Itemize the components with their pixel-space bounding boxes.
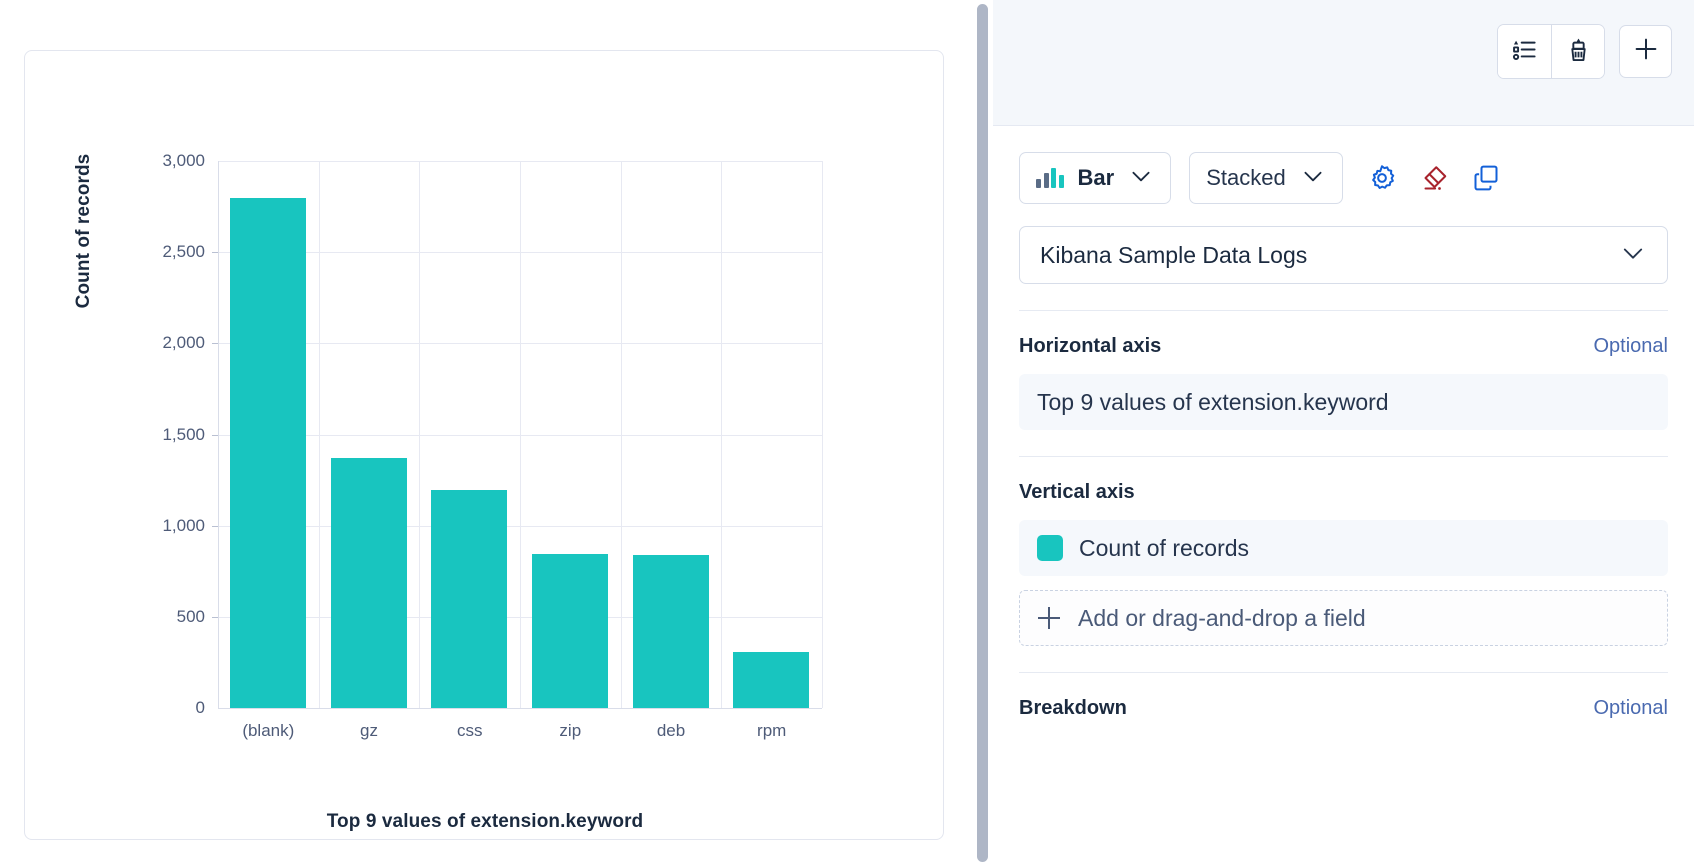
dimension-vertical-axis[interactable]: Count of records bbox=[1019, 520, 1668, 576]
x-axis-line bbox=[218, 708, 822, 709]
chart-type-select[interactable]: Bar bbox=[1019, 152, 1171, 204]
bar-zip[interactable] bbox=[532, 554, 608, 708]
config-panel: Bar Stacked bbox=[993, 0, 1694, 868]
gridline-vertical bbox=[520, 161, 521, 708]
bar-gz[interactable] bbox=[331, 458, 407, 708]
gridline-vertical bbox=[822, 161, 823, 708]
group-optional-label: Optional bbox=[1594, 335, 1669, 358]
bar-chart-icon bbox=[1036, 168, 1064, 188]
bar-chart[interactable]: Count of records Top 9 values of extensi… bbox=[25, 51, 943, 839]
config-panel-body: Bar Stacked bbox=[993, 126, 1694, 720]
group-title: Horizontal axis bbox=[1019, 335, 1161, 358]
group-header-horizontal-axis: Horizontal axis Optional bbox=[993, 311, 1694, 358]
x-tick-label: deb bbox=[657, 721, 685, 741]
dimension-label: Count of records bbox=[1079, 535, 1249, 562]
clear-styles-button[interactable] bbox=[1551, 25, 1604, 78]
y-axis-tick-labels: 3,000 2,500 2,000 1,500 1,000 500 0 bbox=[95, 161, 205, 708]
config-panel-header bbox=[993, 0, 1694, 126]
bar-blank[interactable] bbox=[230, 198, 306, 709]
chart-type-controls: Bar Stacked bbox=[993, 126, 1694, 204]
layer-action-icons bbox=[1367, 163, 1501, 193]
x-tick-label: css bbox=[457, 721, 483, 741]
gear-icon[interactable] bbox=[1367, 163, 1397, 193]
lens-editor: Count of records Top 9 values of extensi… bbox=[0, 0, 1694, 868]
chart-subtype-label: Stacked bbox=[1206, 165, 1286, 191]
gridline-vertical bbox=[621, 161, 622, 708]
group-optional-label: Optional bbox=[1594, 697, 1669, 720]
y-tick-label: 3,000 bbox=[162, 151, 205, 171]
plus-icon bbox=[1631, 34, 1661, 69]
legend-options-button[interactable] bbox=[1498, 25, 1551, 78]
group-header-breakdown: Breakdown Optional bbox=[993, 673, 1694, 720]
header-actions bbox=[1497, 24, 1672, 79]
group-title: Vertical axis bbox=[1019, 481, 1135, 504]
add-field-label: Add or drag-and-drop a field bbox=[1078, 605, 1366, 632]
header-button-group bbox=[1497, 24, 1605, 79]
bar-rpm[interactable] bbox=[733, 652, 809, 709]
scrollbar-thumb[interactable] bbox=[977, 4, 988, 862]
x-tick-label: rpm bbox=[757, 721, 786, 741]
group-header-vertical-axis: Vertical axis bbox=[993, 457, 1694, 504]
group-title: Breakdown bbox=[1019, 697, 1127, 720]
brush-icon bbox=[1565, 36, 1592, 68]
series-color-swatch[interactable] bbox=[1037, 535, 1063, 561]
add-layer-button[interactable] bbox=[1619, 25, 1672, 78]
y-tick-label: 500 bbox=[177, 607, 205, 627]
chevron-down-icon bbox=[1619, 239, 1647, 272]
eraser-icon[interactable] bbox=[1419, 163, 1449, 193]
duplicate-icon[interactable] bbox=[1471, 163, 1501, 193]
plus-icon bbox=[1038, 607, 1060, 629]
chart-subtype-select[interactable]: Stacked bbox=[1189, 152, 1343, 204]
y-axis-title: Count of records bbox=[73, 111, 95, 351]
plot-area: (blank) gz css zip deb rpm bbox=[218, 161, 822, 708]
dimension-label: Top 9 values of extension.keyword bbox=[1037, 389, 1389, 416]
gridline-vertical bbox=[721, 161, 722, 708]
add-field-vertical-axis[interactable]: Add or drag-and-drop a field bbox=[1019, 590, 1668, 646]
y-tick-label: 2,000 bbox=[162, 333, 205, 353]
y-tick-label: 1,000 bbox=[162, 516, 205, 536]
chevron-down-icon bbox=[1300, 163, 1326, 194]
dataset-label: Kibana Sample Data Logs bbox=[1040, 242, 1307, 269]
chart-type-label: Bar bbox=[1078, 165, 1115, 191]
chevron-down-icon bbox=[1128, 163, 1154, 194]
gridline-vertical bbox=[319, 161, 320, 708]
bar-deb[interactable] bbox=[633, 555, 709, 708]
chart-workspace: Count of records Top 9 values of extensi… bbox=[0, 0, 975, 868]
chart-panel: Count of records Top 9 values of extensi… bbox=[24, 50, 944, 840]
list-settings-icon bbox=[1511, 36, 1538, 68]
x-axis-title: Top 9 values of extension.keyword bbox=[145, 811, 825, 833]
gridline-vertical bbox=[419, 161, 420, 708]
y-tick-label: 1,500 bbox=[162, 425, 205, 445]
x-tick-label: zip bbox=[559, 721, 581, 741]
y-tick-label: 2,500 bbox=[162, 242, 205, 262]
dataset-select[interactable]: Kibana Sample Data Logs bbox=[1019, 226, 1668, 284]
x-tick-label: (blank) bbox=[242, 721, 294, 741]
dimension-horizontal-axis[interactable]: Top 9 values of extension.keyword bbox=[1019, 374, 1668, 430]
y-tick-label: 0 bbox=[196, 698, 205, 718]
y-axis-line bbox=[218, 161, 219, 708]
x-tick-label: gz bbox=[360, 721, 378, 741]
bar-css[interactable] bbox=[431, 490, 507, 708]
panel-scrollbar[interactable] bbox=[975, 0, 993, 868]
